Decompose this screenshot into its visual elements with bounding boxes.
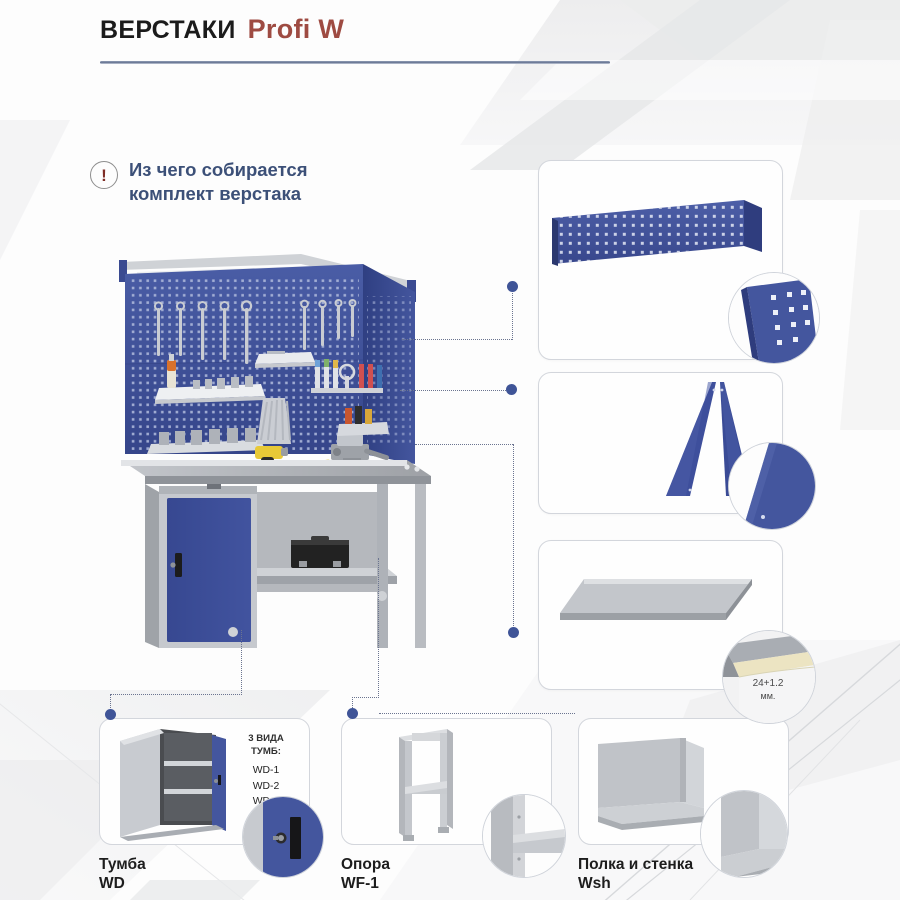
- connector-screen-vertical: [512, 288, 513, 340]
- leg-label-line-1: Опора: [341, 855, 390, 874]
- intro-line-2: комплект верстака: [129, 182, 308, 206]
- right-leg-frame: [377, 484, 426, 648]
- cabinet-wd-label: Тумба WD: [99, 855, 146, 893]
- title-brand: Profi W: [248, 14, 345, 44]
- shelf-wsh-zoom-image: [701, 791, 787, 877]
- connector-screen-horizontal: [402, 339, 512, 340]
- connector-dot-worktop: [508, 627, 519, 638]
- worktop-zoom-caption-line-1: 24+1.2: [722, 678, 814, 689]
- lower-shelf-bay: [257, 492, 397, 592]
- connector-worktop-vertical: [513, 444, 514, 632]
- screen-ws-zoom-bubble: [728, 272, 820, 364]
- cabinet-variant-2: WD-2: [233, 779, 299, 795]
- cabinet-wd-zoom-image: [243, 797, 323, 877]
- connector-dot-leg: [347, 708, 358, 719]
- shelf-wsh-label: Полка и стенка Wsh: [578, 855, 693, 893]
- worktop-zoom-caption-line-2: мм.: [722, 691, 814, 701]
- leg-wf1-label: Опора WF-1: [341, 855, 390, 893]
- cabinet-wd-zoom-bubble: [242, 796, 324, 878]
- cabinet-note-line-2: ТУМБ:: [233, 746, 299, 759]
- cabinet: [145, 484, 257, 648]
- bracket-kit-zoom-bubble: [728, 442, 816, 530]
- bracket-kit-zoom-image: [729, 443, 815, 529]
- shelf-label-line-1: Полка и стенка: [578, 855, 693, 874]
- connector-leg-horizontal: [352, 697, 379, 698]
- connector-cabinet-vertical: [241, 630, 242, 695]
- leg-wf1-image: [385, 725, 490, 843]
- worktop-wt-image: [556, 573, 766, 628]
- connector-dot-bracket: [506, 384, 517, 395]
- header-divider: [100, 61, 610, 64]
- workbench-illustration: [115, 248, 435, 648]
- poster-root: ВЕРСТАКИProfi W ! Из чего собирается ком…: [0, 0, 900, 900]
- shelf-wsh-zoom-bubble: [700, 790, 788, 878]
- leg-wf1-zoom-bubble: [482, 794, 566, 878]
- cabinet-note-line-1: 3 ВИДА: [233, 733, 299, 746]
- connector-leg-vertical: [378, 558, 379, 698]
- workbench-svg: [115, 248, 435, 648]
- worktop-zoom-bubble: [722, 630, 816, 724]
- cabinet-variant-1: WD-1: [233, 763, 299, 779]
- wrench-fan-stand: [257, 398, 291, 444]
- worktop-zoom-image: [723, 631, 815, 723]
- title-category: ВЕРСТАКИ: [100, 16, 236, 44]
- connector-dot-cabinet: [105, 709, 116, 720]
- connector-cabinet-horizontal: [110, 694, 242, 695]
- connector-worktop-horizontal: [415, 444, 513, 445]
- screen-ws-zoom-image: [729, 273, 819, 363]
- shelf-label-line-2: Wsh: [578, 874, 693, 893]
- connector-bracket-horizontal: [400, 390, 508, 391]
- exclamation-circle-icon: !: [90, 161, 118, 189]
- intro-block: ! Из чего собирается комплект верстака: [90, 158, 308, 206]
- worktop: [121, 460, 431, 484]
- screen-ws-image: [548, 194, 776, 274]
- leg-wf1-zoom-image: [483, 795, 565, 877]
- connector-shelf-horizontal: [379, 713, 575, 714]
- page-title: ВЕРСТАКИProfi W: [100, 14, 344, 45]
- leg-label-line-2: WF-1: [341, 874, 390, 893]
- connector-dot-screen: [507, 281, 518, 292]
- cabinet-wd-image: [112, 725, 232, 841]
- cabinet-wd-note: 3 ВИДА ТУМБ:: [233, 733, 299, 759]
- toolbox: [291, 536, 349, 568]
- intro-line-1: Из чего собирается: [129, 158, 308, 182]
- cabinet-label-line-1: Тумба: [99, 855, 146, 874]
- cabinet-label-line-2: WD: [99, 874, 146, 893]
